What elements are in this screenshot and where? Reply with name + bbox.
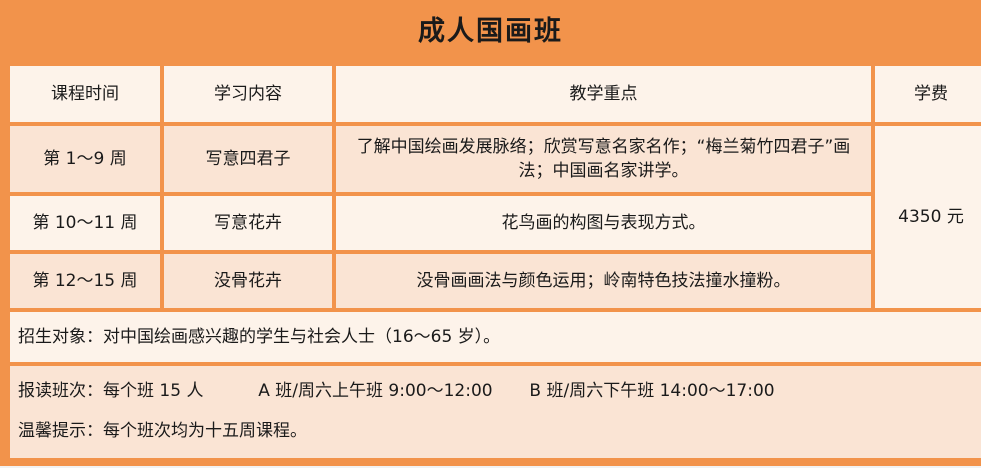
column-header-topic: 学习内容	[164, 66, 332, 122]
cell-topic-2: 写意花卉	[164, 196, 332, 250]
cell-time-1: 第 1～9 周	[10, 126, 160, 192]
column-header-fee: 学费	[875, 66, 981, 122]
enrollment-line: 报读班次：每个班 15 人 A 班/周六上午班 9:00～12:00 B 班/周…	[18, 382, 979, 402]
tip-line: 温馨提示：每个班次均为十五周课程。	[18, 422, 979, 442]
cell-topic-3: 没骨花卉	[164, 254, 332, 308]
poster-title-bar: 成人国画班	[0, 0, 981, 62]
column-header-focus: 教学重点	[336, 66, 871, 122]
column-header-time: 课程时间	[10, 66, 160, 122]
cell-focus-3: 没骨画画法与颜色运用；岭南特色技法撞水撞粉。	[336, 254, 871, 308]
course-poster: 成人国画班 课程时间 学习内容 教学重点 学费 第 1～9 周 写意四君子	[0, 0, 981, 466]
cell-fee-merged: 4350 元	[875, 126, 981, 308]
page-title: 成人国画班	[418, 18, 563, 45]
enrollment-notes-block: 报读班次：每个班 15 人 A 班/周六上午班 9:00～12:00 B 班/周…	[18, 369, 979, 455]
table-row: 第 12～15 周 没骨花卉 没骨画画法与颜色运用；岭南特色技法撞水撞粉。	[10, 254, 981, 308]
enrollment-notes-cell: 报读班次：每个班 15 人 A 班/周六上午班 9:00～12:00 B 班/周…	[10, 366, 981, 458]
class-a-schedule: A 班/周六上午班 9:00～12:00	[258, 381, 492, 401]
table-row: 第 1～9 周 写意四君子 了解中国绘画发展脉络；欣赏写意名家名作；“梅兰菊竹四…	[10, 126, 981, 192]
course-table: 课程时间 学习内容 教学重点 学费 第 1～9 周 写意四君子 了解中国绘画发展…	[6, 62, 981, 462]
class-b-schedule: B 班/周六下午班 14:00～17:00	[529, 381, 774, 401]
table-header-row: 课程时间 学习内容 教学重点 学费	[10, 66, 981, 122]
audience-row: 招生对象：对中国绘画感兴趣的学生与社会人士（16～65 岁）。	[10, 312, 981, 362]
tip-text: 温馨提示：每个班次均为十五周课程。	[18, 421, 307, 441]
table-row: 第 10～11 周 写意花卉 花鸟画的构图与表现方式。	[10, 196, 981, 250]
cell-time-3: 第 12～15 周	[10, 254, 160, 308]
cell-focus-2: 花鸟画的构图与表现方式。	[336, 196, 871, 250]
cell-topic-1: 写意四君子	[164, 126, 332, 192]
audience-note: 招生对象：对中国绘画感兴趣的学生与社会人士（16～65 岁）。	[10, 312, 981, 362]
enrollment-row: 报读班次：每个班 15 人 A 班/周六上午班 9:00～12:00 B 班/周…	[10, 366, 981, 458]
cell-time-2: 第 10～11 周	[10, 196, 160, 250]
course-table-container: 课程时间 学习内容 教学重点 学费 第 1～9 周 写意四君子 了解中国绘画发展…	[0, 62, 981, 468]
cell-focus-1: 了解中国绘画发展脉络；欣赏写意名家名作；“梅兰菊竹四君子”画法；中国画名家讲学。	[336, 126, 871, 192]
enrollment-label: 报读班次：每个班 15 人	[18, 381, 203, 401]
